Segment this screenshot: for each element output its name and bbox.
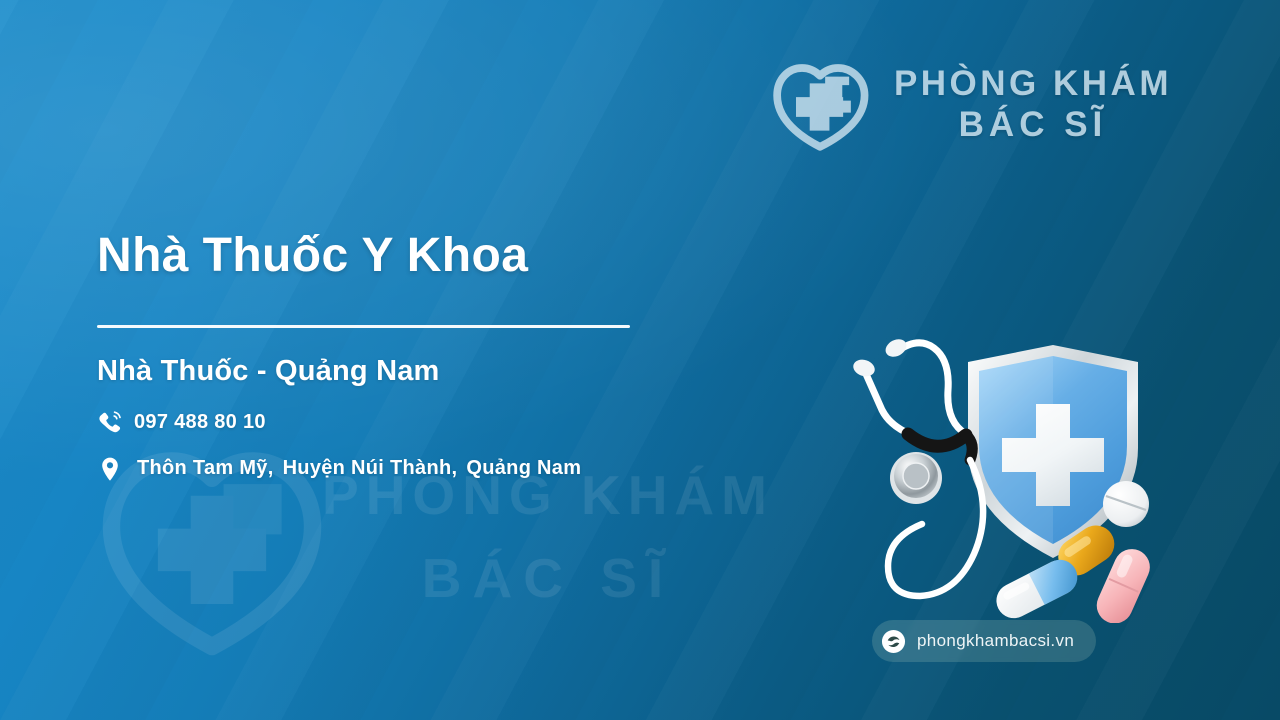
- title-divider: [97, 325, 630, 328]
- brand-logo-line-2: BÁC SĨ: [894, 104, 1172, 145]
- watermark-line-2: BÁC SĨ: [268, 537, 828, 620]
- address-row[interactable]: Thôn Tam Mỹ,Huyện Núi Thành,Quảng Nam: [97, 456, 797, 482]
- brand-logo-line-1: PHÒNG KHÁM: [894, 63, 1172, 104]
- phone-number: 097 488 80 10: [134, 411, 266, 434]
- heart-cross-emblem-icon: [768, 56, 872, 152]
- subtitle: Nhà Thuốc - Quảng Nam: [97, 355, 797, 388]
- website-badge[interactable]: phongkhambacsi.vn: [872, 620, 1096, 662]
- phone-row[interactable]: 097 488 80 10: [97, 410, 797, 436]
- page-title: Nhà Thuốc Y Khoa: [97, 228, 797, 285]
- blue-white-capsule: [990, 554, 1083, 623]
- brand-logo[interactable]: PHÒNG KHÁM BÁC SĨ: [768, 56, 1172, 152]
- website-url: phongkhambacsi.vn: [917, 631, 1074, 651]
- stethoscope: [851, 336, 983, 596]
- shield-with-white-cross: [968, 345, 1138, 558]
- address-part-2: Huyện Núi Thành,: [283, 457, 458, 479]
- address-part-3: Quảng Nam: [466, 457, 581, 479]
- map-pin-icon: [97, 456, 137, 482]
- brand-logo-text: PHÒNG KHÁM BÁC SĨ: [894, 63, 1172, 146]
- white-round-tablet: [1103, 481, 1149, 527]
- globe-swirl-icon: [881, 629, 906, 654]
- contact-list: 097 488 80 10 Thôn Tam Mỹ,Huyện Núi Thàn…: [97, 410, 797, 482]
- content-block: Nhà Thuốc Y Khoa Nhà Thuốc - Quảng Nam 0…: [97, 228, 797, 482]
- clinic-banner: PHÒNG KHÁM BÁC SĨ PHÒNG KHÁM BÁC SĨ Nhà …: [0, 0, 1280, 720]
- phone-ringing-icon: [97, 410, 134, 436]
- medical-shield-stethoscope-pills-illustration: [838, 318, 1168, 623]
- address-text: Thôn Tam Mỹ,Huyện Núi Thành,Quảng Nam: [137, 457, 581, 480]
- address-part-1: Thôn Tam Mỹ,: [137, 457, 274, 479]
